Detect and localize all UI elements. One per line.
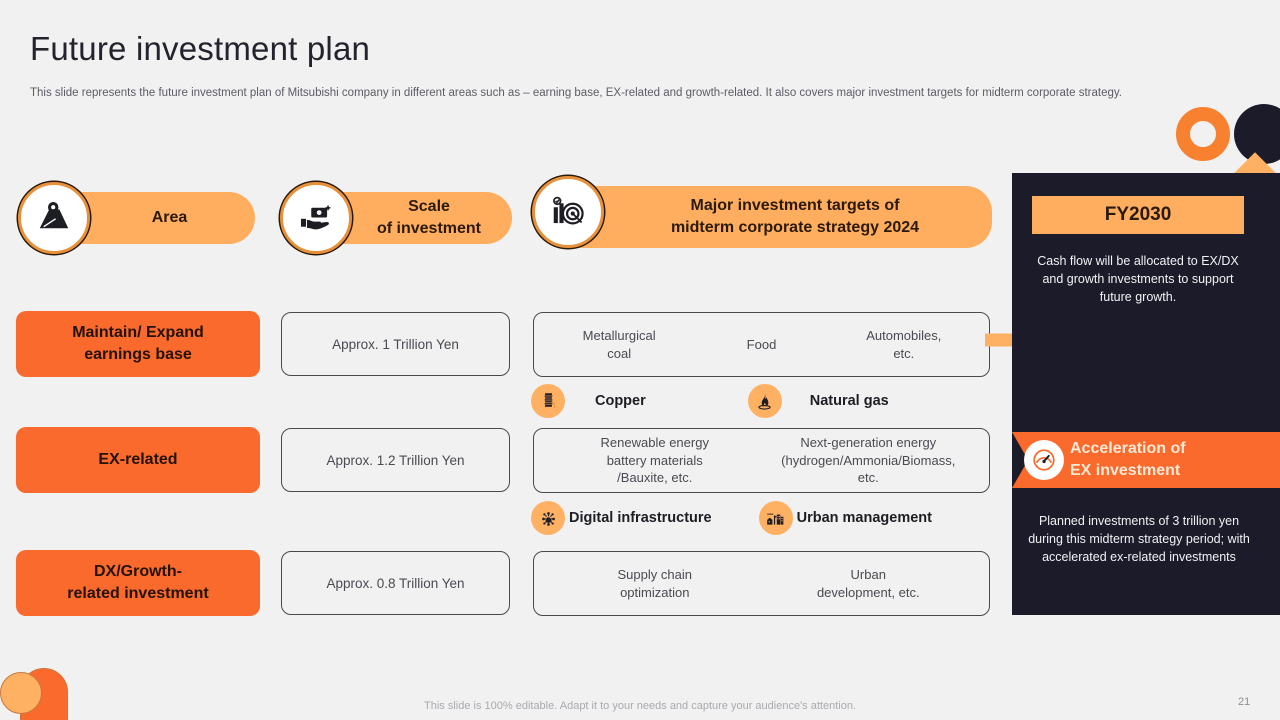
chip-digital-infrastructure: Digital infrastructure <box>531 501 712 535</box>
fy-badge: FY2030 <box>1032 196 1244 234</box>
ribbon-label-line1: Acceleration of <box>1070 440 1186 457</box>
chart-target-icon <box>532 176 604 248</box>
speedometer-icon <box>1024 440 1064 480</box>
row-label-ex-related: EX-related <box>16 427 260 493</box>
chip-urban-management-label: Urban management <box>797 510 932 526</box>
side-panel-text-top: Cash flow will be allocated to EX/DX and… <box>1028 252 1248 306</box>
row-0-label-line1: Maintain/ Expand <box>72 324 204 341</box>
target-item: Renewable energybattery materials/Bauxit… <box>548 434 762 487</box>
network-node-icon <box>531 501 565 535</box>
row-label-dx-growth: DX/Growth- related investment <box>16 550 260 616</box>
chip-digital-infrastructure-label: Digital infrastructure <box>569 510 712 526</box>
row-2-label-line2: related investment <box>67 585 208 602</box>
target-item: Supply chainoptimization <box>548 566 762 601</box>
target-box-row-1: Renewable energybattery materials/Bauxit… <box>533 428 990 493</box>
chip-natural-gas: Natural gas <box>748 384 889 418</box>
city-building-icon <box>759 501 793 535</box>
scale-box-row-1: Approx. 1.2 Trillion Yen <box>281 428 510 492</box>
side-panel-text-bottom: Planned investments of 3 trillion yen du… <box>1028 512 1250 566</box>
row-0-label-line2: earnings base <box>84 346 192 363</box>
target-item: Metallurgicalcoal <box>548 327 690 362</box>
ribbon-label-line2: EX investment <box>1070 462 1180 479</box>
column-header-scale: Scale of investment <box>312 192 512 244</box>
scale-box-row-2: Approx. 0.8 Trillion Yen <box>281 551 510 615</box>
hand-money-icon <box>280 182 352 254</box>
chip-natural-gas-label: Natural gas <box>810 393 889 409</box>
targets-label-line2: midterm corporate strategy 2024 <box>671 219 919 236</box>
page-title: Future investment plan <box>30 30 370 68</box>
slide-canvas: Future investment plan This slide repres… <box>0 0 1280 720</box>
row-2-label-line1: DX/Growth- <box>94 563 182 580</box>
row-label-maintain-expand: Maintain/ Expand earnings base <box>16 311 260 377</box>
page-subtitle: This slide represents the future investm… <box>30 86 1210 102</box>
ribbon-label: Acceleration of EX investment <box>1070 438 1270 481</box>
decorative-bottom-left-circle <box>0 672 42 714</box>
target-item: Food <box>690 336 832 354</box>
scale-box-row-0: Approx. 1 Trillion Yen <box>281 312 510 376</box>
chip-row-1: Digital infrastructure <box>531 501 991 535</box>
column-header-area: Area <box>50 192 255 244</box>
column-header-targets: Major investment targets of midterm corp… <box>564 186 992 248</box>
target-box-row-2: Supply chainoptimization Urbandevelopmen… <box>533 551 990 616</box>
decorative-ring <box>1176 107 1230 161</box>
chip-copper-label: Copper <box>595 393 646 409</box>
scale-label-line1: Scale <box>408 198 450 215</box>
scale-label-line2: of investment <box>377 220 481 237</box>
targets-label-line1: Major investment targets of <box>691 197 900 214</box>
target-item: Next-generation energy(hydrogen/Ammonia/… <box>762 434 976 487</box>
acceleration-ribbon: Acceleration of EX investment <box>1012 432 1280 488</box>
target-box-row-0: Metallurgicalcoal Food Automobiles,etc. <box>533 312 990 377</box>
row-1-label-line1: EX-related <box>98 451 177 468</box>
chip-row-0: Copper Natural gas <box>531 384 991 418</box>
copper-wire-icon <box>531 384 565 418</box>
chip-urban-management: Urban management <box>759 501 932 535</box>
column-header-targets-label: Major investment targets of midterm corp… <box>564 195 992 238</box>
map-pin-icon <box>18 182 90 254</box>
flame-icon <box>748 384 782 418</box>
target-item: Urbandevelopment, etc. <box>762 566 976 601</box>
target-item: Automobiles,etc. <box>833 327 975 362</box>
chip-copper: Copper <box>531 384 646 418</box>
footer-note: This slide is 100% editable. Adapt it to… <box>0 700 1280 712</box>
page-number: 21 <box>1238 696 1250 708</box>
